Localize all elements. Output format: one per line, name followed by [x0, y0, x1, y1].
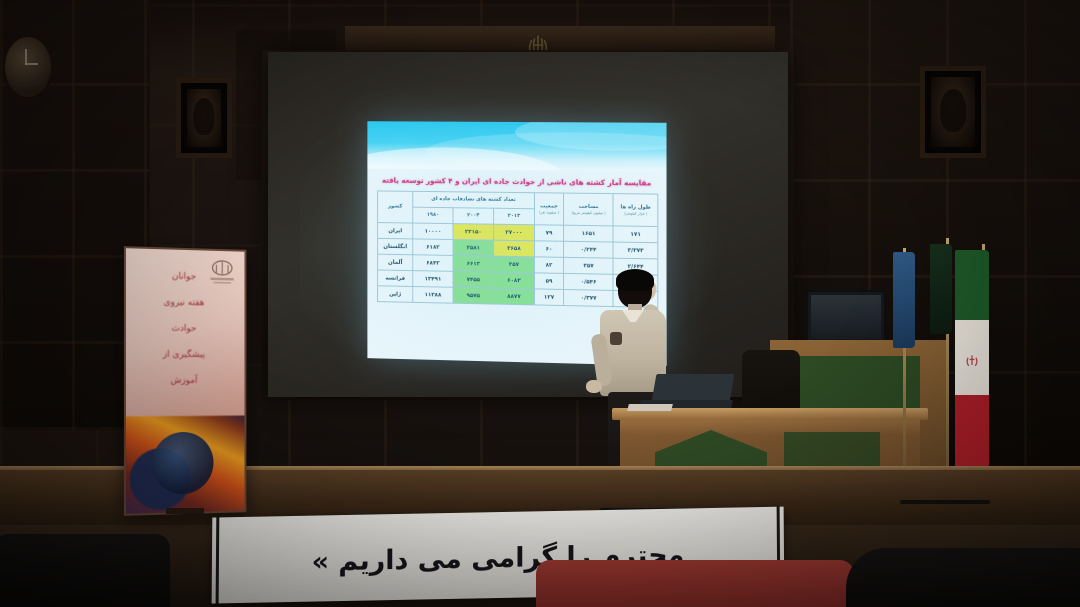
foreground-seat-center [536, 560, 854, 607]
header-year-2013: ۲۰۱۳ [494, 208, 535, 225]
cell-deaths-2004: ۷۴۵۵ [453, 271, 493, 288]
header-year-2004: ۲۰۰۴ [453, 208, 493, 224]
cable-right [900, 500, 990, 504]
wall-clock-icon [2, 34, 54, 100]
foreground-seat-left [0, 534, 170, 607]
cell-deaths-2013: ۲۷۰۰۰ [494, 224, 535, 241]
cell-population: ۱۲۷ [534, 289, 563, 306]
laptop-screen [652, 374, 735, 402]
cell-population: ۵۹ [534, 273, 563, 290]
cell-area: ۱۶۵۱ [564, 225, 614, 242]
cell-deaths-2013: ۸۸۷۷ [494, 288, 535, 305]
cell-deaths-2004: ۹۵۷۵ [453, 287, 493, 304]
side-monitor [806, 290, 886, 344]
flag-iran [955, 250, 989, 484]
presenter-hair [616, 269, 654, 291]
flag-blue [893, 252, 915, 348]
header-deaths-group: تعداد کشته های تصادفات جاده ای [413, 191, 534, 208]
rollup-banner: جوانانهفته نیرویحوادثپیشگیری ازآموزش [124, 246, 246, 516]
portrait-frame-khomeini [176, 78, 232, 158]
cell-population: ۸۲ [534, 257, 563, 274]
cell-deaths-2013: ۶۰۸۳ [494, 272, 535, 289]
cell-deaths-2004: ۳۵۸۱ [453, 240, 493, 257]
presenter-shoulder-patch [610, 332, 622, 345]
cell-roads: ۱۷۱ [614, 226, 658, 243]
cell-deaths-2013: ۳۵۷ [494, 256, 535, 273]
header-population: جمعیت ( میلیون نفر) [534, 193, 563, 225]
cell-deaths-2004: ۶۶۱۳ [453, 255, 493, 272]
rollup-line: جوانان [136, 263, 231, 291]
foreground-seat-right [846, 548, 1080, 607]
cell-country: انگلستان [378, 238, 413, 254]
header-country: کشور [378, 191, 413, 223]
cell-deaths-1980: ۶۸۴۲ [413, 255, 453, 272]
portrait-frame-khamenei [920, 66, 986, 158]
cell-deaths-1980: ۱۰۰۰۰ [413, 223, 453, 239]
rollup-line: هفته نیروی [136, 289, 231, 317]
cell-deaths-1980: ۱۳۴۹۱ [413, 271, 453, 288]
banner-rod-left [216, 517, 220, 603]
rollup-line: حوادث [136, 315, 231, 342]
cell-deaths-2004: ۲۳۱۵۰ [453, 224, 493, 241]
cell-country: ژاپن [378, 286, 413, 303]
presenter-hand-lower [586, 380, 602, 393]
cell-country: آلمان [378, 254, 413, 270]
cell-deaths-1980: ۶۱۸۲ [413, 239, 453, 256]
cell-area: ۰/۲۴۴ [564, 241, 614, 258]
slide-header-band [367, 121, 666, 171]
cell-population: ۷۹ [534, 225, 563, 241]
papers-on-desk [627, 404, 673, 411]
flag-dark-green [930, 244, 952, 334]
rollup-base-stand [166, 508, 204, 514]
header-area: مساحت ( میلیون کیلومتر مربع) [564, 193, 614, 226]
cell-roads: ۳/۳۷۳ [614, 242, 658, 259]
cell-population: ۶۰ [534, 241, 563, 258]
cell-deaths-2013: ۳۶۵۸ [494, 240, 535, 257]
rollup-line: آموزش [136, 368, 231, 394]
cell-deaths-1980: ۱۱۳۸۸ [413, 286, 453, 303]
iran-flag-emblem-icon [964, 353, 980, 369]
header-roads: طول راه ها ( هزار کیلومتر) [614, 194, 658, 227]
rollup-calligraphy-text: جوانانهفته نیرویحوادثپیشگیری ازآموزش [136, 263, 231, 415]
cell-country: فرانسه [378, 270, 413, 287]
header-year-1980: ۱۹۸۰ [413, 207, 453, 223]
conference-hall-photo: مقایسه آمار کشته های ناشی از حوادث جاده … [0, 0, 1080, 607]
cell-country: ایران [378, 223, 413, 239]
rollup-line: پیشگیری از [136, 342, 231, 369]
